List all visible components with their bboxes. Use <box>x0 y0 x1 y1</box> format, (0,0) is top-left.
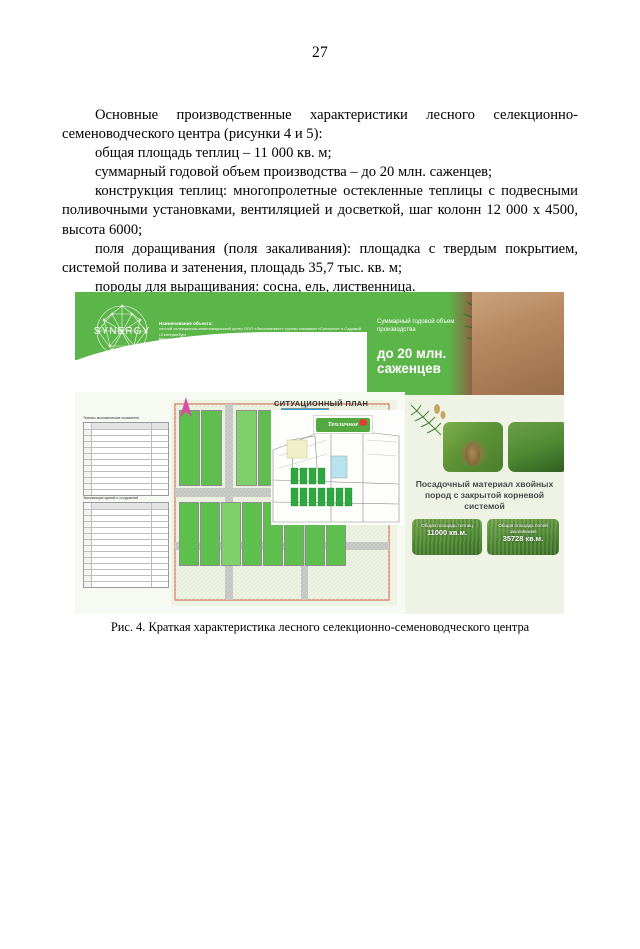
figure-caption: Рис. 4. Краткая характеристика лесного с… <box>62 619 578 635</box>
location-value: РФ, Свердловская обл., г. Екатеринбург, … <box>159 342 369 353</box>
stat-value: 35728 кв.м. <box>487 536 559 542</box>
paragraph-fields: поля доращивания (поля закаливания): пло… <box>62 240 578 278</box>
paragraph-area: общая площадь теплиц – 11 000 кв. м; <box>62 144 578 163</box>
planting-material-section: Посадочный материал хвойных пород с закр… <box>405 395 564 614</box>
table-header-row <box>84 503 168 510</box>
pine-branch-icon <box>407 401 447 443</box>
buildings-explication-table <box>83 502 169 588</box>
paragraph-construction: конструкция теплиц: многопролетные остек… <box>62 182 578 239</box>
hands-closeup-photo <box>472 292 564 395</box>
table-caption-2: Экспликация зданий и сооружений <box>83 496 138 500</box>
stat-box-content: Общая площадь теплиц 11000 кв.м. <box>412 523 482 536</box>
stat-box-content: Общая площадь полей закаливания 35728 кв… <box>487 523 559 542</box>
pine-cone-icon <box>465 444 480 466</box>
cone-photo-thumbnail <box>443 422 503 472</box>
plot-cell <box>221 502 241 566</box>
table-caption-1: Технико-экономические показатели <box>83 416 139 420</box>
annual-volume-caption: Суммарный годовой объем производства <box>377 318 461 334</box>
situational-plan-drawing: Тепличное <box>271 410 404 525</box>
header-object-info: Наименование объекта: лесной селекционно… <box>159 321 369 353</box>
seedling-field-photo-thumbnail <box>508 422 564 472</box>
stat-value: 11000 кв.м. <box>412 530 482 536</box>
page-number: 27 <box>0 44 640 62</box>
paragraph-volume: суммарный годовой объем производства – д… <box>62 163 578 182</box>
plot-cell <box>236 410 257 486</box>
annual-volume-panel: Суммарный годовой объем производства до … <box>367 292 472 395</box>
stat-box-hardening-fields-area: Общая площадь полей закаливания 35728 кв… <box>487 519 559 555</box>
plot-cell <box>242 502 262 566</box>
table-row <box>84 582 168 587</box>
tomato-icon <box>359 419 367 426</box>
plot-cell <box>201 410 222 486</box>
tech-economic-table <box>83 422 169 496</box>
body-text: Основные производственные характеристики… <box>62 106 578 297</box>
table-row <box>84 490 168 495</box>
teplichnoe-sign-label: Тепличное <box>328 421 359 428</box>
table-header-row <box>84 423 168 430</box>
synergy-logo: SYNERGY <box>88 302 156 360</box>
paragraph-intro: Основные производственные характеристики… <box>62 106 578 144</box>
object-name-value: лесной селекционно-семеноводческий центр… <box>159 326 369 337</box>
planting-material-title: Посадочный материал хвойных пород с закр… <box>405 479 564 512</box>
annual-volume-value: до 20 млн. саженцев <box>377 347 473 376</box>
document-page: 27 Основные производственные характерист… <box>0 44 640 949</box>
teplichnoe-sign-plate: Тепличное <box>316 418 370 432</box>
stat-label: Общая площадь полей закаливания <box>498 523 548 534</box>
plot-cell <box>200 502 220 566</box>
infographic-poster: SYNERGY Наименование объекта: лесной сел… <box>75 292 564 614</box>
teplichnoe-sign: Тепличное <box>313 415 373 434</box>
plot-cell <box>179 410 200 486</box>
synergy-logo-text: SYNERGY <box>88 326 156 337</box>
north-arrow-icon <box>178 397 194 417</box>
plot-cell <box>179 502 199 566</box>
figure-4: SYNERGY Наименование объекта: лесной сел… <box>75 292 564 614</box>
stat-box-greenhouse-area: Общая площадь теплиц 11000 кв.м. <box>412 519 482 555</box>
situational-plan-title: СИТУАЦИОННЫЙ ПЛАН <box>274 399 368 408</box>
